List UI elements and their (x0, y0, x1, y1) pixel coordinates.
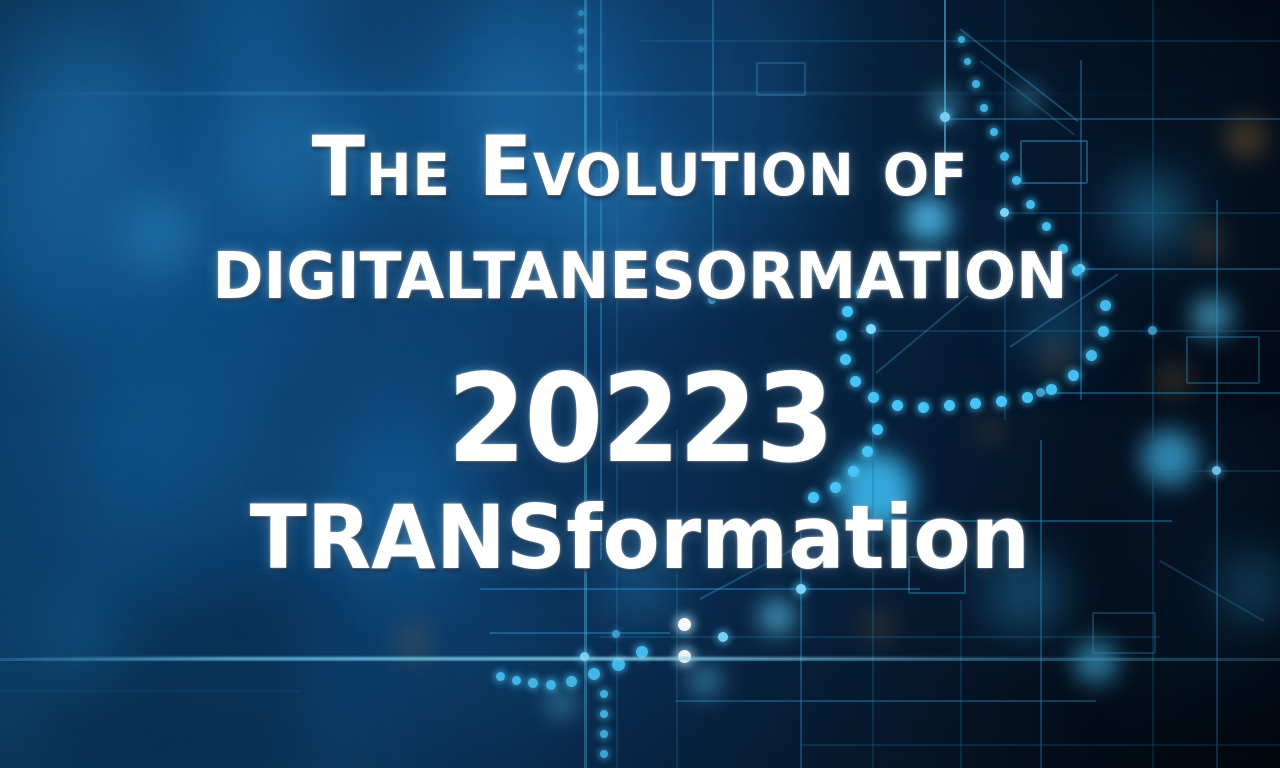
title-line-2: DIGITALTANESORMATION (26, 240, 1255, 314)
poster-title: The Evolution of DIGITALTANESORMATION 20… (0, 0, 1280, 768)
title-line-3-year: 20223 (45, 348, 1235, 490)
title-banner: The Evolution of DIGITALTANESORMATION 20… (0, 0, 1280, 768)
title-line-4: TRANSformation (32, 486, 1248, 589)
title-line-1: The Evolution of (38, 118, 1241, 215)
